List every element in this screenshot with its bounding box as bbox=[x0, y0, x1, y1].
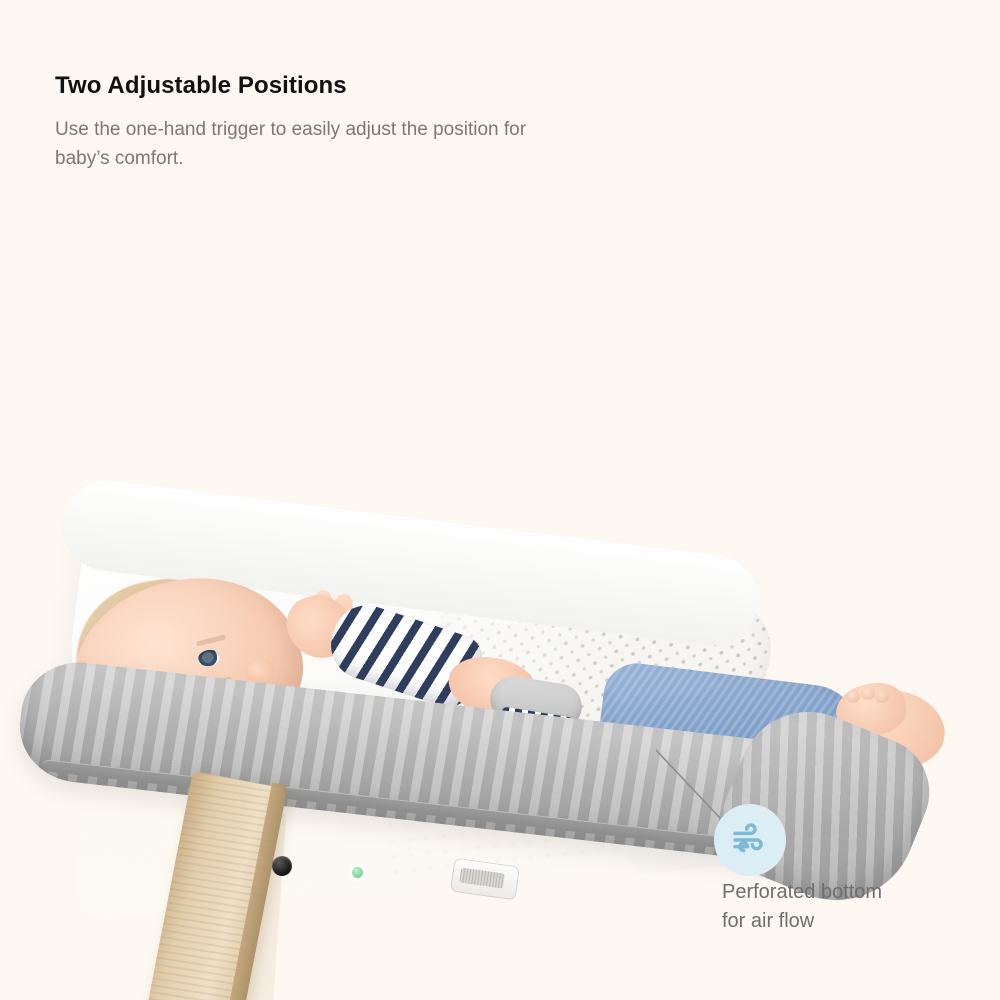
callout-caption-line-2: for air flow bbox=[722, 907, 972, 936]
airflow-badge bbox=[714, 804, 786, 876]
marketing-panel: Two Adjustable Positions Use the one-han… bbox=[0, 0, 1000, 1000]
baby-toe bbox=[846, 690, 860, 703]
callout-caption: Perforated bottom for air flow bbox=[722, 878, 972, 936]
wind-airflow-icon bbox=[730, 820, 770, 860]
baby-toe bbox=[861, 687, 875, 700]
screw-cap-icon bbox=[272, 856, 292, 876]
page-title: Two Adjustable Positions bbox=[55, 72, 655, 101]
subheading-text: Use the one-hand trigger to easily adjus… bbox=[55, 115, 575, 174]
baby-toe bbox=[875, 690, 889, 703]
callout-caption-line-1: Perforated bottom bbox=[722, 878, 972, 907]
copy-block: Two Adjustable Positions Use the one-han… bbox=[55, 72, 655, 174]
